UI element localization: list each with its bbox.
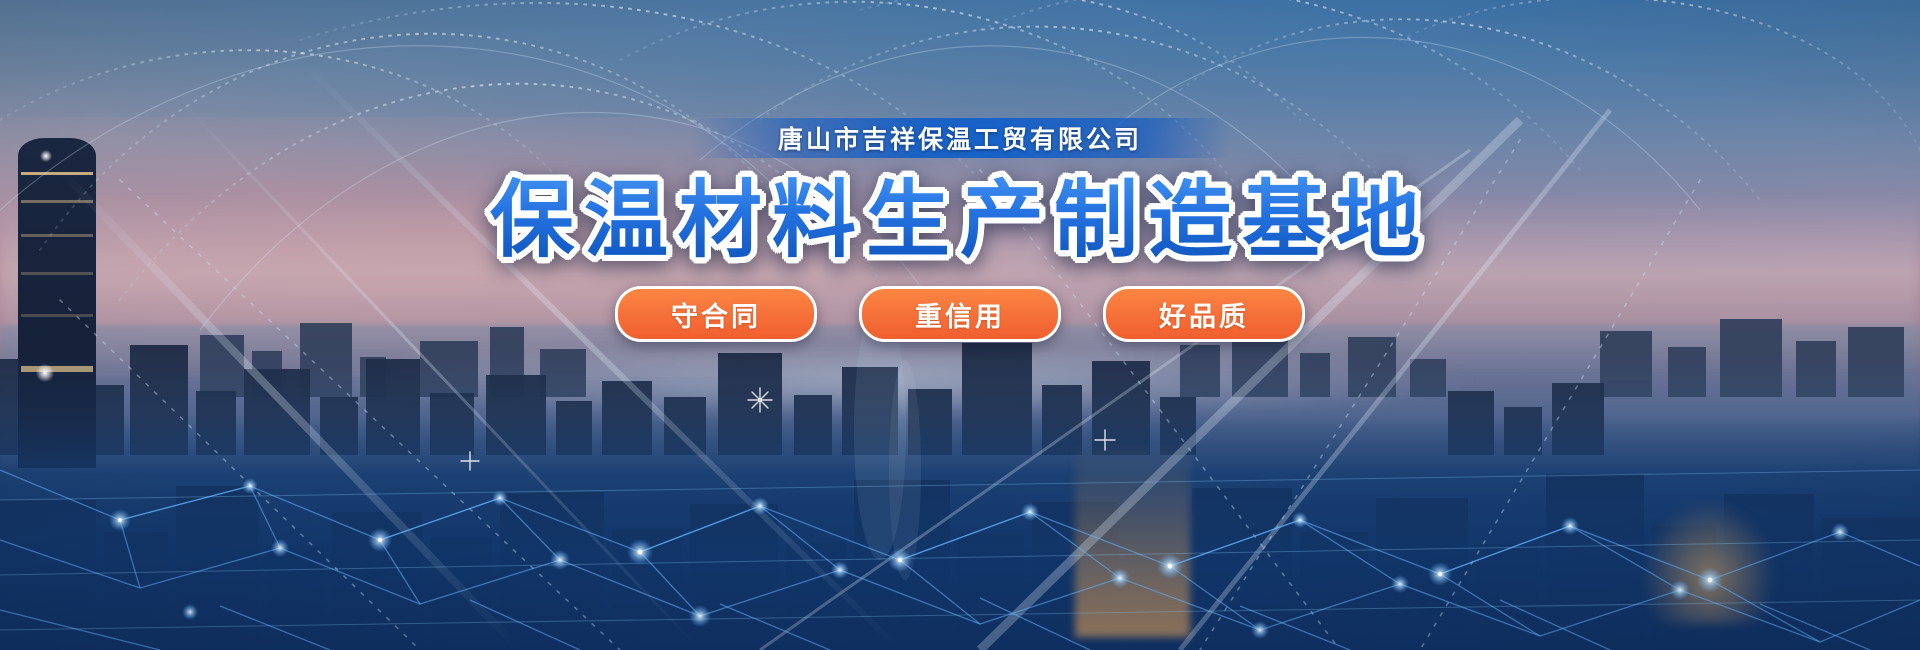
page-title: 保温材料生产制造基地 (490, 176, 1430, 264)
badge-contract[interactable]: 守合同 (615, 286, 817, 342)
badge-credit[interactable]: 重信用 (859, 286, 1061, 342)
company-name: 唐山市吉祥保温工贸有限公司 (778, 120, 1142, 156)
badge-quality[interactable]: 好品质 (1103, 286, 1305, 342)
badge-contract-label: 守合同 (671, 295, 761, 334)
company-name-ribbon: 唐山市吉祥保温工贸有限公司 (690, 118, 1230, 158)
badge-quality-label: 好品质 (1159, 295, 1249, 334)
banner-content: 唐山市吉祥保温工贸有限公司 保温材料生产制造基地 守合同 重信用 好品质 (0, 0, 1920, 650)
badge-credit-label: 重信用 (915, 295, 1005, 334)
feature-badges: 守合同 重信用 好品质 (615, 286, 1305, 342)
hero-banner: 唐山市吉祥保温工贸有限公司 保温材料生产制造基地 守合同 重信用 好品质 (0, 0, 1920, 650)
